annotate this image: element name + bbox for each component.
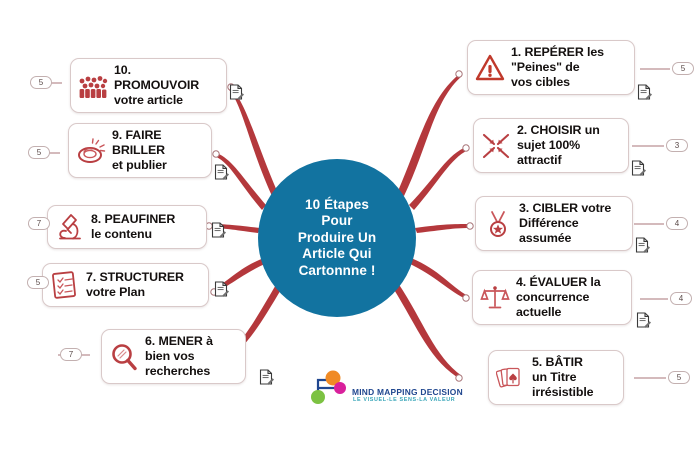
topic-node-8[interactable]: 8. PEAUFINER le contenu [47, 205, 207, 249]
brand-logo[interactable]: MIND MAPPING DECISION LE VISUEL-LE SENS-… [305, 366, 465, 414]
topic-badge-3[interactable]: 4 [666, 217, 688, 230]
note-indicator-icon-9[interactable] [214, 164, 229, 180]
topic-node-9[interactable]: 9. FAIRE BRILLER et publier [68, 123, 212, 178]
topic-node-3-label: 3. CIBLER votre Différence assumée [519, 201, 611, 246]
topic-node-10-label: 10. PROMOUVOIR votre article [114, 63, 218, 108]
topic-badge-1[interactable]: 5 [672, 62, 694, 75]
topic-badge-10[interactable]: 5 [30, 76, 52, 89]
topic-badge-7[interactable]: 5 [27, 276, 49, 289]
crowd-people-icon [76, 69, 110, 103]
topic-badge-2[interactable]: 3 [666, 139, 688, 152]
topic-node-3[interactable]: 3. CIBLER votre Différence assumée [475, 196, 633, 251]
topic-badge-6[interactable]: 7 [60, 348, 82, 361]
topic-node-4-label: 4. ÉVALUER la concurrence actuelle [516, 275, 601, 320]
central-topic[interactable]: 10 Étapes Pour Produire Un Article Qui C… [258, 159, 416, 317]
topic-node-2[interactable]: 2. CHOISIR un sujet 100% attractif [473, 118, 629, 173]
topic-node-4[interactable]: 4. ÉVALUER la concurrence actuelle [472, 270, 632, 325]
note-indicator-icon-8[interactable] [211, 222, 226, 238]
topic-node-6-label: 6. MENER à bien vos recherches [145, 334, 213, 379]
topic-node-9-label: 9. FAIRE BRILLER et publier [112, 128, 167, 173]
topic-node-6[interactable]: 6. MENER à bien vos recherches [101, 329, 246, 384]
note-indicator-icon-3[interactable] [635, 237, 650, 253]
logo-mark-icon [305, 366, 355, 412]
playing-cards-icon [494, 361, 528, 395]
topic-badge-8[interactable]: 7 [28, 217, 50, 230]
logo-tagline: LE VISUEL-LE SENS-LA VALEUR [353, 397, 455, 403]
note-indicator-icon-7[interactable] [214, 281, 229, 297]
topic-badge-9[interactable]: 5 [28, 146, 50, 159]
note-indicator-icon-10[interactable] [229, 84, 244, 100]
warning-triangle-icon [473, 51, 507, 85]
note-indicator-icon-1[interactable] [637, 84, 652, 100]
topic-node-1[interactable]: 1. REPÉRER les "Peines" de vos cibles [467, 40, 635, 95]
converging-arrows-icon [479, 129, 513, 163]
central-topic-text: 10 Étapes Pour Produire Un Article Qui C… [290, 197, 384, 280]
topic-node-8-label: 8. PEAUFINER le contenu [91, 212, 175, 242]
topic-badge-5[interactable]: 5 [668, 371, 690, 384]
polish-shine-icon [74, 134, 108, 168]
note-indicator-icon-2[interactable] [631, 160, 646, 176]
topic-node-1-label: 1. REPÉRER les "Peines" de vos cibles [511, 45, 604, 90]
topic-badge-4[interactable]: 4 [670, 292, 692, 305]
medal-icon [481, 207, 515, 241]
topic-node-7-label: 7. STRUCTURER votre Plan [86, 270, 184, 300]
microscope-icon [53, 210, 87, 244]
mindmap-canvas: 10 Étapes Pour Produire Un Article Qui C… [0, 0, 700, 469]
magnifier-icon [107, 340, 141, 374]
checklist-clipboard-icon [48, 268, 82, 302]
topic-node-10[interactable]: 10. PROMOUVOIR votre article [70, 58, 227, 113]
scales-balance-icon [478, 281, 512, 315]
note-indicator-icon-6[interactable] [259, 369, 274, 385]
topic-node-2-label: 2. CHOISIR un sujet 100% attractif [517, 123, 600, 168]
topic-node-7[interactable]: 7. STRUCTURER votre Plan [42, 263, 209, 307]
logo-name: MIND MAPPING DECISION [352, 387, 463, 397]
note-indicator-icon-4[interactable] [636, 312, 651, 328]
topic-node-5-label: 5. BÂTIR un Titre irrésistible [532, 355, 593, 400]
topic-node-5[interactable]: 5. BÂTIR un Titre irrésistible [488, 350, 624, 405]
